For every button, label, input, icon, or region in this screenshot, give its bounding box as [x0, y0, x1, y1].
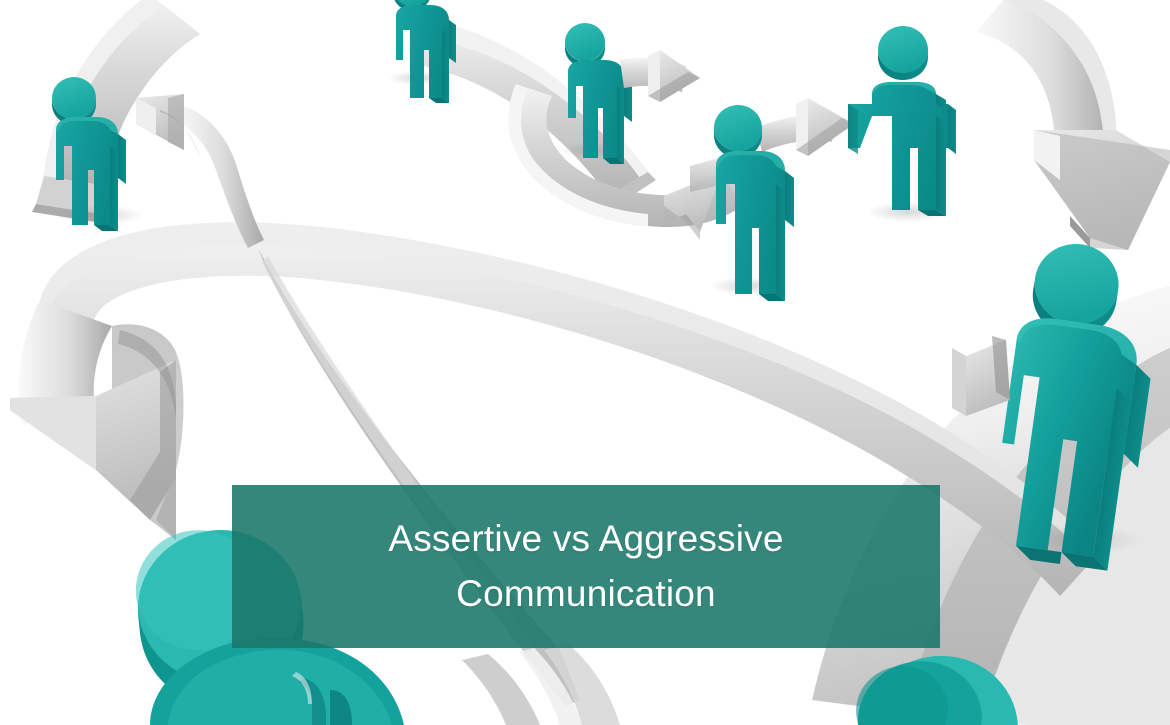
title-banner: Assertive vs Aggressive Communication — [232, 485, 940, 648]
illustration-canvas: Assertive vs Aggressive Communication — [0, 0, 1170, 725]
figure-top-right — [848, 26, 956, 222]
arrow-bottom-center-fragment — [462, 644, 620, 725]
figure-top-center-left — [388, 0, 456, 103]
page-title: Assertive vs Aggressive Communication — [388, 512, 783, 620]
arrow-far-right-descend — [976, 0, 1170, 250]
